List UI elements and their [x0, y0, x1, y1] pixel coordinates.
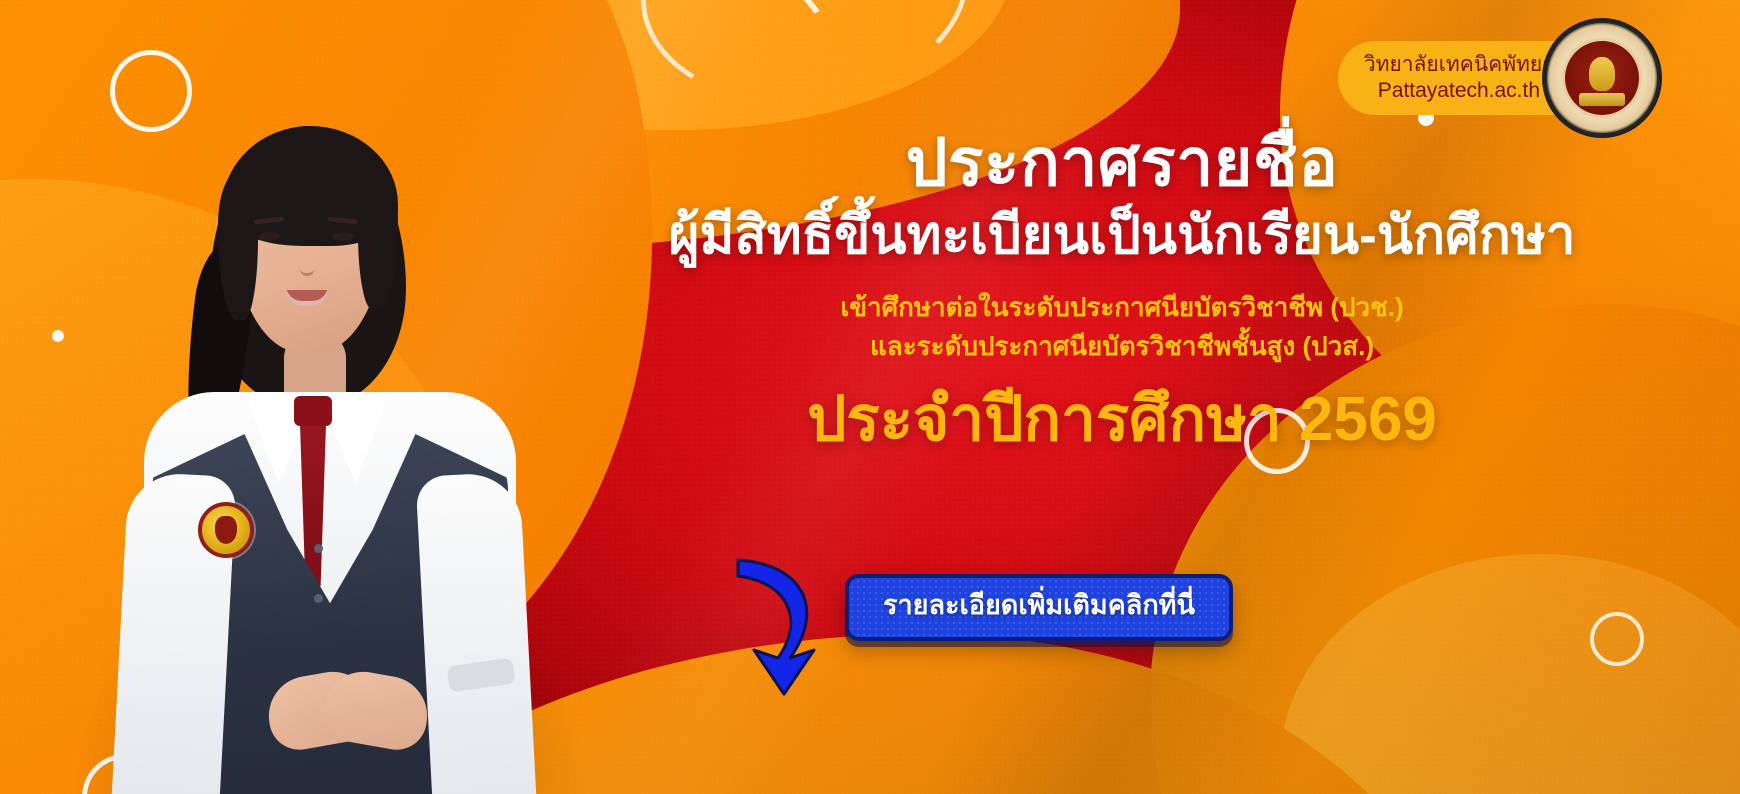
more-details-button[interactable]: รายละเอียดเพิ่มเติมคลิกที่นี่	[845, 574, 1233, 641]
student-necktie-knot	[294, 396, 332, 426]
student-vest-button-2	[314, 594, 323, 603]
admission-announcement-banner: วิทยาลัยเทคนิคพัทยา Pattayatech.ac.th ปร…	[0, 0, 1740, 794]
more-details-label: รายละเอียดเพิ่มเติมคลิกที่นี่	[883, 592, 1195, 619]
headline-line-1: ประกาศรายชื่อ	[600, 128, 1644, 198]
college-name-thai: วิทยาลัยเทคนิคพัทยา	[1364, 52, 1554, 78]
student-vest-button-1	[314, 544, 323, 553]
seal-emblem	[1565, 41, 1639, 115]
decorative-ring-lower-right	[1590, 612, 1644, 666]
student-photo	[118, 74, 538, 794]
student-uniform-badge	[198, 502, 254, 558]
cta-container: รายละเอียดเพิ่มเติมคลิกที่นี่	[845, 574, 1233, 641]
subtitle-line-2: และระดับประกาศนียบัตรวิชาชีพชั้นสูง (ปวส…	[600, 328, 1644, 365]
student-eye-left	[258, 232, 280, 241]
student-hair-front	[222, 126, 398, 246]
college-website: Pattayatech.ac.th	[1378, 78, 1540, 104]
student-eye-right	[332, 232, 354, 241]
college-seal-icon	[1542, 18, 1662, 138]
decorative-dot-left	[52, 330, 64, 342]
curved-down-arrow-icon	[728, 546, 838, 696]
subtitle-line-1: เข้าศึกษาต่อในระดับประกาศนียบัตรวิชาชีพ …	[600, 289, 1644, 326]
academic-year-line: ประจำปีการศึกษา 2569	[600, 386, 1644, 454]
announcement-text-block: ประกาศรายชื่อ ผู้มีสิทธิ์ขึ้นทะเบียนเป็น…	[600, 128, 1644, 455]
student-arm-right	[415, 472, 536, 794]
headline-line-2: ผู้มีสิทธิ์ขึ้นทะเบียนเป็นนักเรียน-นักศึ…	[600, 204, 1644, 269]
